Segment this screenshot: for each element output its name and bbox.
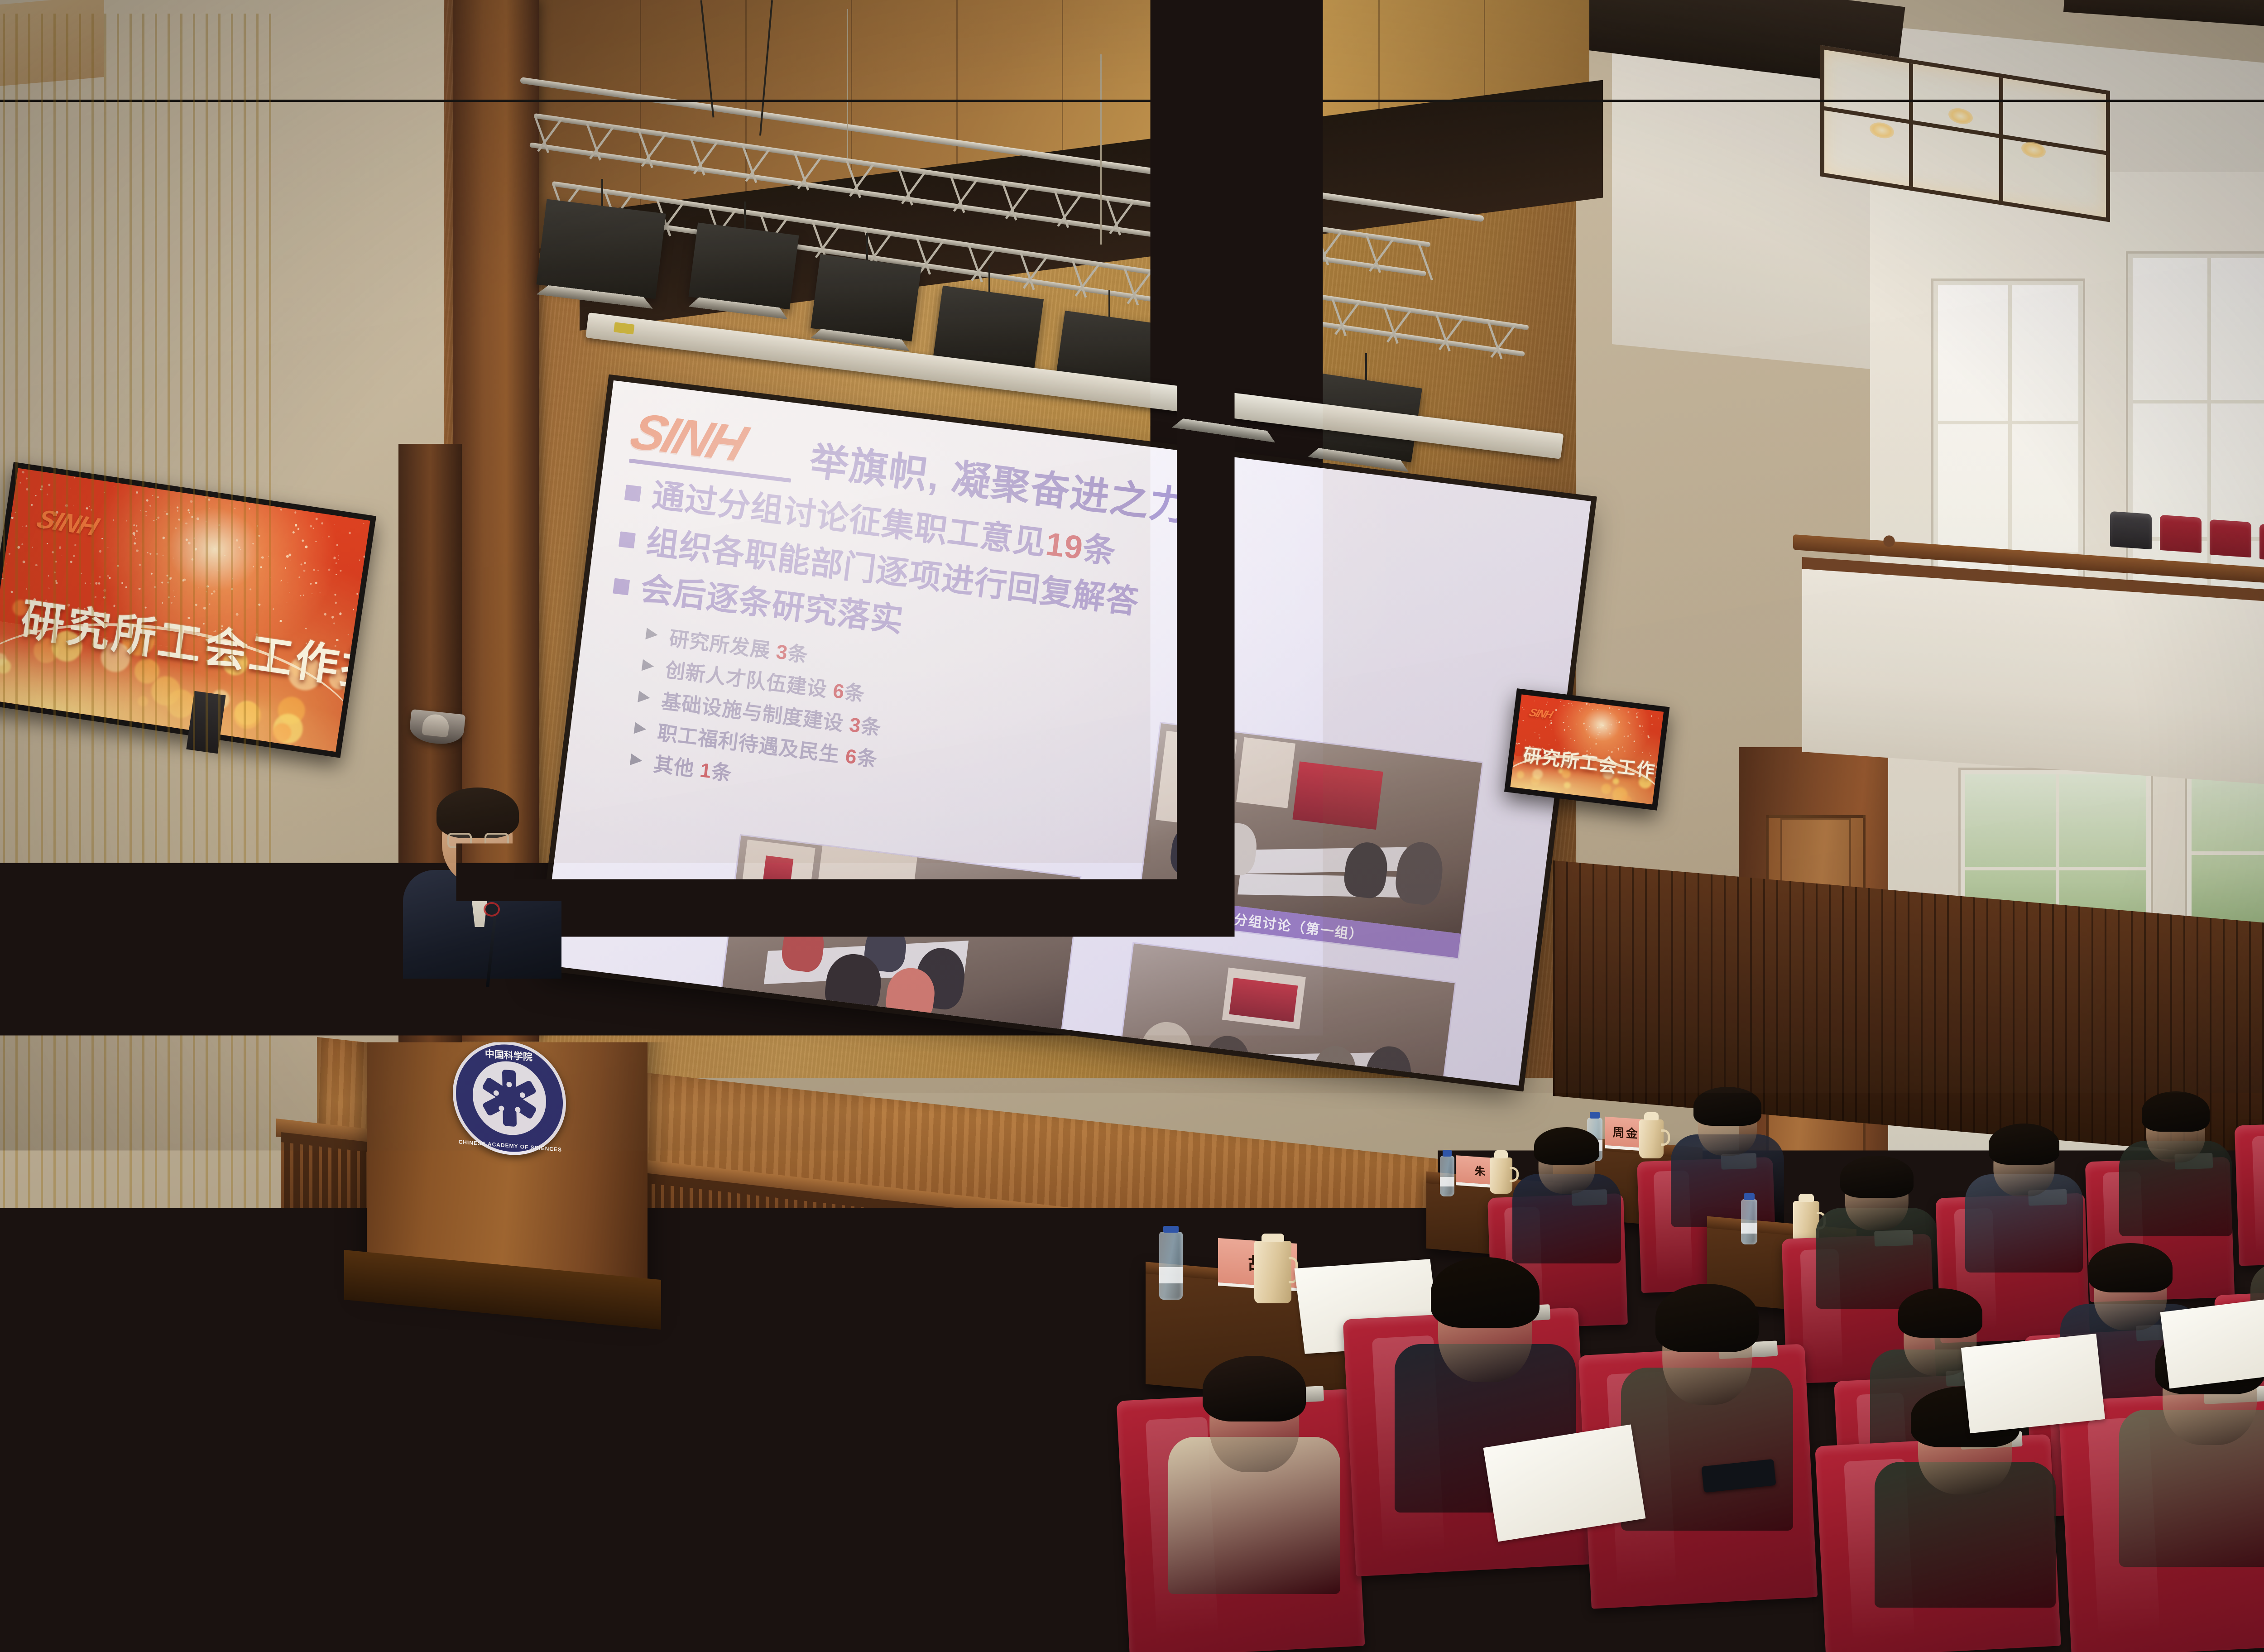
truss-hanger-wire <box>1100 54 1102 245</box>
bullet-square-icon <box>624 485 642 502</box>
sinh-logo: SINH <box>1527 706 1554 721</box>
arrow-bullet-icon <box>634 722 647 735</box>
cas-flower-icon <box>483 1070 536 1126</box>
person-hair <box>1203 1356 1306 1422</box>
right-wall-monitor: SINH 研究所工会工作报告 <box>1504 688 1669 811</box>
truss-hanger-wire <box>847 9 848 158</box>
arrow-bullet-icon <box>642 659 655 672</box>
stage-light-fixture <box>811 254 921 341</box>
auditorium-scene: SINH 举旗帜, 凝聚奋进之力 通过分组讨论征集职工意见19条组织各职能部门逐… <box>0 0 2264 1652</box>
lamp-yoke <box>1365 353 1367 383</box>
stage-light-fixture <box>688 222 799 309</box>
podium-microphone <box>485 904 498 915</box>
tea-mug <box>885 1288 922 1352</box>
tea-mug <box>1639 1119 1664 1158</box>
name-card-text: 朱 <box>1475 1162 1487 1179</box>
person-hair <box>1655 1284 1759 1352</box>
podium-sign-text: 中国科学院上海营养与健康研究所 <box>370 969 649 1020</box>
attendee-phone <box>995 1397 1065 1425</box>
person-hair <box>1898 1288 1982 1338</box>
water-bottle <box>824 1291 848 1359</box>
balcony-chair-dark <box>2110 511 2152 549</box>
arrow-bullet-icon <box>638 691 651 704</box>
audience-person <box>2119 1082 2232 1236</box>
person-hair <box>1989 1124 2059 1165</box>
audience-person <box>1168 1340 1340 1594</box>
water-bottle <box>940 1263 963 1330</box>
stage-light-fixture <box>536 199 666 299</box>
tea-mug <box>1490 1157 1512 1194</box>
railing-ornament <box>1877 529 1901 553</box>
presentation-slide: SINH 举旗帜, 凝聚奋进之力 通过分组讨论征集职工意见19条组织各职能部门逐… <box>541 380 1591 1085</box>
person-hair <box>1840 1156 1914 1198</box>
attendee-document <box>1961 1334 2105 1433</box>
lamp-yoke <box>866 233 868 263</box>
attendee-document <box>2160 1297 2264 1389</box>
lamp-yoke <box>988 265 990 295</box>
speaker-glasses <box>447 833 509 848</box>
tea-mug <box>1254 1241 1291 1303</box>
balcony-seat <box>2259 524 2264 562</box>
bullet-square-icon <box>619 531 636 548</box>
balcony-seat <box>2210 519 2251 557</box>
sub-item-text: 其他 1条 <box>652 748 734 787</box>
monitor-screen: SINH 研究所工会工作报告 <box>1510 694 1664 804</box>
bullet-square-icon <box>613 578 630 595</box>
projection-screen: SINH 举旗帜, 凝聚奋进之力 通过分组讨论征集职工意见19条组织各职能部门逐… <box>541 380 1591 1085</box>
lamp-yoke <box>744 202 746 231</box>
slide-photo-group-1: 分组讨论（第一组） <box>1136 722 1484 960</box>
person-hair <box>2088 1243 2173 1292</box>
audience-person <box>1671 1078 1784 1227</box>
arrow-bullet-icon <box>630 754 643 767</box>
water-bottle <box>1159 1232 1183 1300</box>
person-hair <box>1431 1257 1540 1328</box>
balcony-seat <box>2160 515 2202 553</box>
speaker-hair <box>436 788 519 838</box>
lamp-yoke <box>1231 322 1233 351</box>
person-hair <box>1693 1087 1761 1126</box>
water-bottle <box>1741 1199 1757 1244</box>
person-hair <box>2142 1091 2210 1131</box>
cas-emblem-inner <box>470 1057 549 1139</box>
person-hair <box>1534 1127 1599 1165</box>
tea-mug <box>996 1268 1033 1330</box>
lamp-yoke <box>601 179 603 209</box>
cas-emblem-chinese-text: 中国科学院 <box>485 1047 533 1064</box>
water-bottle <box>1440 1156 1454 1196</box>
lamp-yoke <box>1108 290 1110 320</box>
arrow-bullet-icon <box>645 628 658 641</box>
